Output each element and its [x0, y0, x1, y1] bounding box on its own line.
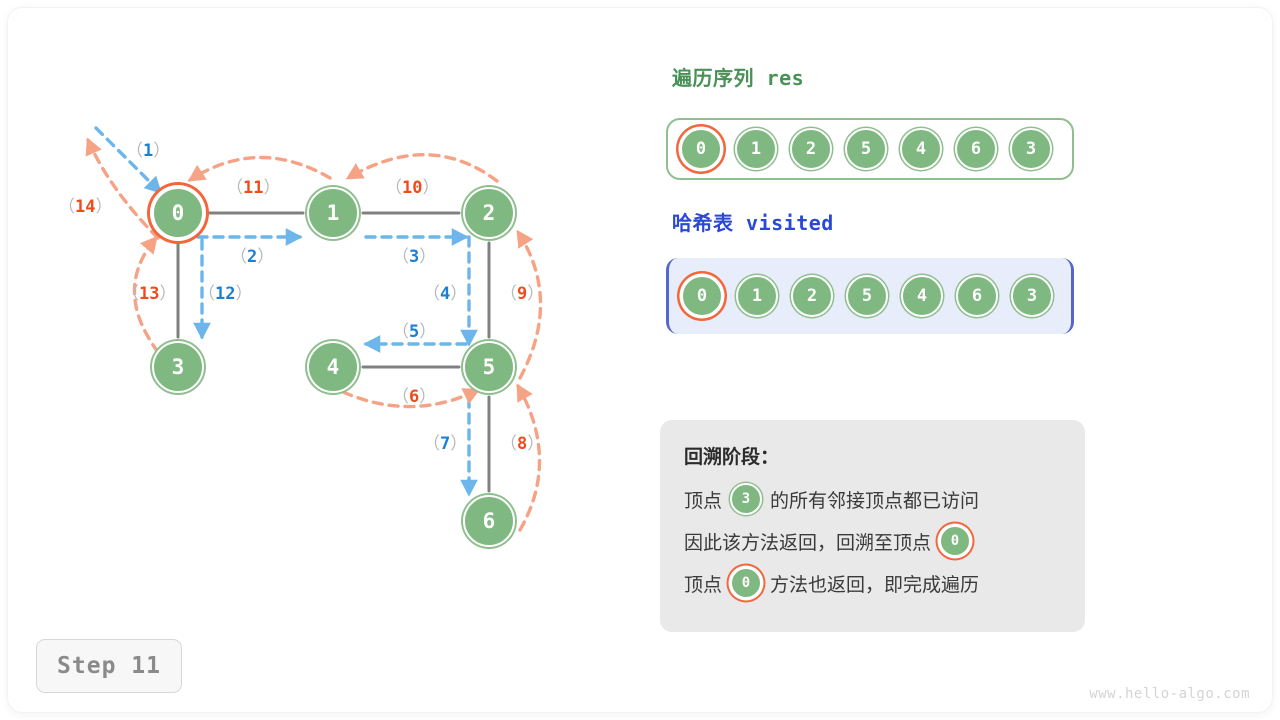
step-label-4: （4）	[423, 279, 467, 304]
card-line-1: 顶点 3 的所有邻接顶点都已访问	[684, 483, 1061, 515]
card-line3-pre: 顶点	[684, 570, 722, 597]
card-node-0-b: 0	[730, 567, 762, 599]
res-cell-3: 5	[845, 128, 887, 170]
res-cell-1: 1	[735, 128, 777, 170]
graph-node-6: 6	[463, 495, 515, 547]
step-label-2: （2）	[230, 242, 274, 267]
arrow-step-8	[518, 386, 540, 530]
card-heading: 回溯阶段：	[684, 442, 1061, 469]
step-label-12: （12）	[198, 279, 252, 304]
backtracking-info-card: 回溯阶段： 顶点 3 的所有邻接顶点都已访问 因此该方法返回，回溯至顶点 0 顶…	[660, 420, 1085, 632]
step-label-3: （3）	[392, 242, 436, 267]
step-label-8: （8）	[500, 429, 544, 454]
step-label-14: （14）	[58, 192, 112, 217]
step-label-7: （7）	[423, 429, 467, 454]
graph-node-2: 2	[463, 187, 515, 239]
graph-panel: 0123456 （1）（2）（3）（4）（5）（6）（7）（8）（9）（10）（…	[0, 0, 640, 720]
watermark: www.hello-algo.com	[1089, 686, 1250, 702]
card-node-0-a: 0	[939, 525, 971, 557]
card-line1-pre: 顶点	[684, 486, 722, 513]
right-panel: 遍历序列 res 0125463 哈希表 visited 0125463 回溯阶…	[640, 0, 1280, 720]
res-cell-6: 3	[1010, 128, 1052, 170]
card-line2-pre: 因此该方法返回，回溯至顶点	[684, 528, 931, 555]
step-label-10: （10）	[385, 173, 439, 198]
res-cell-4: 4	[900, 128, 942, 170]
res-section-title: 遍历序列 res	[672, 62, 804, 91]
step-label-1: （1）	[126, 136, 170, 161]
visited-cell-0: 0	[681, 275, 723, 317]
graph-node-1: 1	[307, 187, 359, 239]
visited-cell-4: 4	[901, 275, 943, 317]
card-line3-post: 方法也返回，即完成遍历	[770, 570, 979, 597]
visited-cell-1: 1	[736, 275, 778, 317]
graph-node-3: 3	[152, 341, 204, 393]
res-cell-2: 2	[790, 128, 832, 170]
step-label-5: （5）	[392, 317, 436, 342]
res-cell-5: 6	[955, 128, 997, 170]
visited-cell-5: 6	[956, 275, 998, 317]
graph-node-5: 5	[463, 341, 515, 393]
screenshot-canvas: 0123456 （1）（2）（3）（4）（5）（6）（7）（8）（9）（10）（…	[0, 0, 1280, 720]
card-line1-post: 的所有邻接顶点都已访问	[770, 486, 979, 513]
res-array-box: 0125463	[666, 118, 1074, 180]
step-badge: Step 11	[36, 639, 182, 693]
graph-node-4: 4	[307, 341, 359, 393]
step-label-13: （13）	[122, 279, 176, 304]
step-label-6: （6）	[392, 382, 436, 407]
card-node-3: 3	[730, 483, 762, 515]
graph-node-0: 0	[152, 187, 204, 239]
step-label-9: （9）	[500, 279, 544, 304]
card-line-3: 顶点 0 方法也返回，即完成遍历	[684, 567, 1061, 599]
visited-cell-3: 5	[846, 275, 888, 317]
res-cell-0: 0	[680, 128, 722, 170]
visited-hashset-box: 0125463	[666, 258, 1074, 334]
card-line-2: 因此该方法返回，回溯至顶点 0	[684, 525, 1061, 557]
visited-section-title: 哈希表 visited	[672, 207, 834, 236]
visited-cell-2: 2	[791, 275, 833, 317]
arrow-step-9	[518, 232, 541, 378]
visited-cell-6: 3	[1011, 275, 1053, 317]
step-label-11: （11）	[226, 173, 280, 198]
